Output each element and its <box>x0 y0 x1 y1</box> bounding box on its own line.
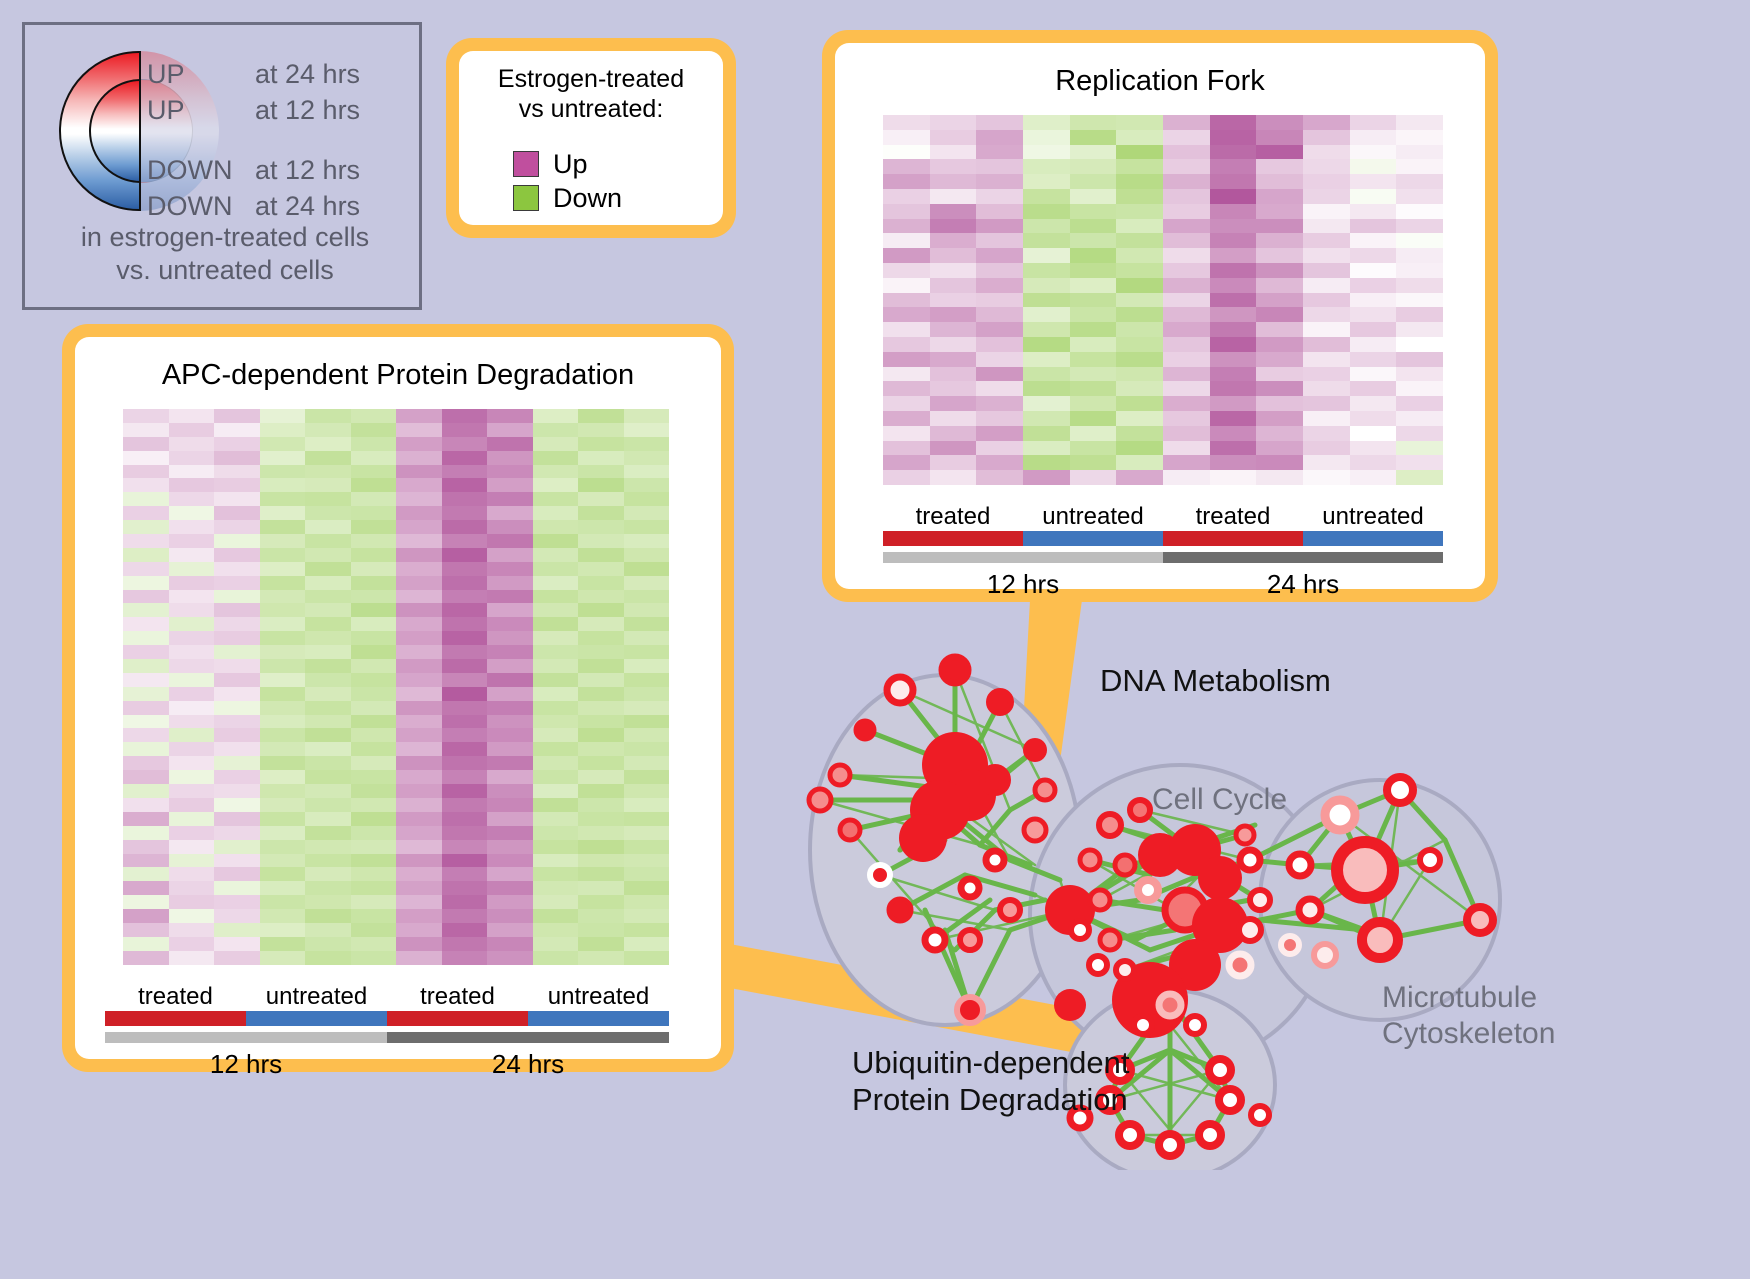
heatmap-cell <box>533 451 579 465</box>
heatmap-cell <box>260 798 306 812</box>
heatmap-cell <box>1303 396 1350 411</box>
heatmap-color-legend-panel: Estrogen-treated vs untreated: Up Down <box>446 38 736 238</box>
heatmap-cell <box>123 909 169 923</box>
heatmap-cell <box>533 534 579 548</box>
heatmap-cell <box>260 409 306 423</box>
heatmap-cell <box>1163 174 1210 189</box>
heatmap-cell <box>1070 174 1117 189</box>
heatmap-cell <box>624 881 670 895</box>
label-ubiquitin-line1: Ubiquitin-dependent <box>852 1044 1130 1081</box>
heatmap-cell <box>1396 219 1443 234</box>
heatmap-cell <box>214 756 260 770</box>
heatmap-cell <box>1163 204 1210 219</box>
heatmap-cell <box>1163 145 1210 160</box>
heatmap-cell <box>214 770 260 784</box>
heatmap-cell <box>1023 130 1070 145</box>
heatmap-cell <box>1350 470 1397 485</box>
heatmap-cell <box>214 895 260 909</box>
heatmap-cell <box>487 854 533 868</box>
heatmap-cell <box>1210 130 1257 145</box>
heatmap-cell <box>351 756 397 770</box>
apc-timebar-12 <box>105 1032 387 1043</box>
heatmap-cell <box>351 812 397 826</box>
heatmap-cell <box>1396 455 1443 470</box>
heatmap-cell <box>533 548 579 562</box>
label-ubiquitin-line2: Protein Degradation <box>852 1081 1130 1118</box>
legend-title: Estrogen-treated vs untreated: <box>459 65 723 124</box>
heatmap-cell <box>305 826 351 840</box>
heatmap-cell <box>930 367 977 382</box>
heatmap-cell <box>1396 411 1443 426</box>
heatmap-cell <box>1023 367 1070 382</box>
apc-bar-untreated-12 <box>246 1011 387 1026</box>
heatmap-cell <box>1350 248 1397 263</box>
apc-group-bars <box>105 1011 669 1026</box>
heatmap-cell <box>1256 219 1303 234</box>
heatmap-cell <box>396 826 442 840</box>
heatmap-cell <box>976 189 1023 204</box>
heatmap-cell <box>214 798 260 812</box>
heatmap-cell <box>123 590 169 604</box>
heatmap-cell <box>214 826 260 840</box>
heatmap-cell <box>305 645 351 659</box>
heatmap-cell <box>976 441 1023 456</box>
heatmap-cell <box>578 701 624 715</box>
heatmap-cell <box>169 812 215 826</box>
heatmap-cell <box>123 826 169 840</box>
heatmap-cell <box>1256 189 1303 204</box>
heatmap-cell <box>1303 455 1350 470</box>
heatmap-cell <box>1116 204 1163 219</box>
heatmap-cell <box>305 631 351 645</box>
heatmap-cell <box>1023 455 1070 470</box>
heatmap-cell <box>442 590 488 604</box>
heatmap-cell <box>305 492 351 506</box>
heatmap-cell <box>1210 337 1257 352</box>
heatmap-cell <box>1163 263 1210 278</box>
heatmap-cell <box>930 293 977 308</box>
heatmap-cell <box>1163 396 1210 411</box>
heatmap-cell <box>883 322 930 337</box>
heatmap-cell <box>624 465 670 479</box>
heatmap-cell <box>1070 470 1117 485</box>
heatmap-cell <box>624 854 670 868</box>
heatmap-cell <box>976 248 1023 263</box>
apc-time-label-24: 24 hrs <box>387 1049 669 1080</box>
heatmap-cell <box>396 937 442 951</box>
heatmap-cell <box>396 590 442 604</box>
heatmap-cell <box>1256 322 1303 337</box>
heatmap-cell <box>1396 396 1443 411</box>
heatmap-cell <box>1256 130 1303 145</box>
heatmap-cell <box>930 174 977 189</box>
heatmap-cell <box>1210 115 1257 130</box>
heatmap-cell <box>123 687 169 701</box>
heatmap-cell <box>351 645 397 659</box>
heatmap-cell <box>260 603 306 617</box>
heatmap-cell <box>1023 278 1070 293</box>
heatmap-cell <box>169 881 215 895</box>
heatmap-cell <box>883 145 930 160</box>
heatmap-cell <box>1116 322 1163 337</box>
heatmap-cell <box>624 798 670 812</box>
heatmap-cell <box>442 520 488 534</box>
heatmap-cell <box>396 715 442 729</box>
heatmap-cell <box>260 465 306 479</box>
heatmap-cell <box>351 603 397 617</box>
heatmap-cell <box>883 293 930 308</box>
heatmap-cell <box>214 742 260 756</box>
heatmap-cell <box>169 631 215 645</box>
heatmap-cell <box>1163 293 1210 308</box>
heatmap-cell <box>487 423 533 437</box>
heatmap-cell <box>578 687 624 701</box>
heatmap-cell <box>351 548 397 562</box>
node-key-footer-line1: in estrogen-treated cells <box>25 221 425 254</box>
heatmap-cell <box>442 895 488 909</box>
heatmap-cell <box>396 409 442 423</box>
heatmap-cell <box>487 590 533 604</box>
inner-disc-left-half <box>89 79 140 183</box>
heatmap-cell <box>487 534 533 548</box>
heatmap-cell <box>351 659 397 673</box>
heatmap-cell <box>260 742 306 756</box>
heatmap-cell <box>487 784 533 798</box>
heatmap-cell <box>1210 352 1257 367</box>
heatmap-cell <box>396 742 442 756</box>
apc-time-bars <box>105 1032 669 1043</box>
heatmap-cell <box>1396 293 1443 308</box>
heatmap-cell <box>1303 159 1350 174</box>
heatmap-cell <box>351 784 397 798</box>
heatmap-cell <box>351 562 397 576</box>
heatmap-cell <box>1256 204 1303 219</box>
replication-fork-title: Replication Fork <box>835 65 1485 98</box>
heatmap-cell <box>260 478 306 492</box>
heatmap-cell <box>578 826 624 840</box>
heatmap-cell <box>487 659 533 673</box>
heatmap-cell <box>442 617 488 631</box>
heatmap-cell <box>305 576 351 590</box>
heatmap-cell <box>123 673 169 687</box>
heatmap-cell <box>442 770 488 784</box>
heatmap-cell <box>442 909 488 923</box>
heatmap-cell <box>123 534 169 548</box>
heatmap-cell <box>1350 367 1397 382</box>
heatmap-cell <box>396 451 442 465</box>
legend-title-line2: vs untreated: <box>459 95 723 125</box>
replication-fork-axis: treated untreated treated untreated 12 h <box>883 503 1443 600</box>
heatmap-cell <box>533 909 579 923</box>
rf-group-bars <box>883 531 1443 546</box>
heatmap-cell <box>1070 159 1117 174</box>
heatmap-cell <box>351 534 397 548</box>
heatmap-cell <box>260 909 306 923</box>
heatmap-cell <box>1070 381 1117 396</box>
heatmap-cell <box>305 798 351 812</box>
heatmap-cell <box>260 812 306 826</box>
heatmap-cell <box>1350 204 1397 219</box>
node-key-footer: in estrogen-treated cells vs. untreated … <box>25 221 425 287</box>
heatmap-cell <box>260 854 306 868</box>
heatmap-cell <box>883 396 930 411</box>
heatmap-cell <box>487 631 533 645</box>
heatmap-cell <box>260 492 306 506</box>
heatmap-cell <box>169 770 215 784</box>
heatmap-cell <box>169 923 215 937</box>
heatmap-cell <box>578 534 624 548</box>
heatmap-cell <box>442 645 488 659</box>
heatmap-cell <box>123 715 169 729</box>
heatmap-cell <box>442 659 488 673</box>
heatmap-cell <box>305 506 351 520</box>
heatmap-cell <box>976 455 1023 470</box>
heatmap-cell <box>1210 293 1257 308</box>
heatmap-cell <box>396 881 442 895</box>
replication-fork-heatmap <box>883 115 1443 485</box>
heatmap-cell <box>930 411 977 426</box>
heatmap-cell <box>214 909 260 923</box>
heatmap-cell <box>442 506 488 520</box>
heatmap-cell <box>1023 337 1070 352</box>
heatmap-cell <box>396 478 442 492</box>
heatmap-cell <box>396 812 442 826</box>
heatmap-cell <box>976 411 1023 426</box>
heatmap-cell <box>578 548 624 562</box>
heatmap-cell <box>1396 248 1443 263</box>
heatmap-cell <box>883 233 930 248</box>
heatmap-cell <box>1350 189 1397 204</box>
heatmap-cell <box>578 715 624 729</box>
heatmap-cell <box>123 812 169 826</box>
heatmap-cell <box>930 204 977 219</box>
heatmap-cell <box>214 423 260 437</box>
rf-bar-treated-12 <box>883 531 1023 546</box>
heatmap-cell <box>442 409 488 423</box>
key-state-up-12: UP <box>147 95 255 126</box>
heatmap-cell <box>578 478 624 492</box>
heatmap-cell <box>214 492 260 506</box>
heatmap-cell <box>1350 411 1397 426</box>
apc-group-label-2: treated <box>387 983 528 1011</box>
heatmap-cell <box>487 478 533 492</box>
key-state-down-12: DOWN <box>147 155 255 186</box>
heatmap-cell <box>169 659 215 673</box>
heatmap-cell <box>214 673 260 687</box>
heatmap-cell <box>578 659 624 673</box>
heatmap-cell <box>169 437 215 451</box>
heatmap-cell <box>487 715 533 729</box>
heatmap-cell <box>1303 337 1350 352</box>
heatmap-cell <box>305 465 351 479</box>
heatmap-cell <box>351 492 397 506</box>
heatmap-cell <box>305 451 351 465</box>
heatmap-cell <box>1303 145 1350 160</box>
heatmap-cell <box>305 923 351 937</box>
heatmap-cell <box>169 867 215 881</box>
heatmap-cell <box>123 770 169 784</box>
heatmap-cell <box>396 923 442 937</box>
heatmap-cell <box>305 854 351 868</box>
heatmap-cell <box>533 659 579 673</box>
heatmap-cell <box>442 867 488 881</box>
heatmap-cell <box>930 159 977 174</box>
heatmap-cell <box>1256 411 1303 426</box>
heatmap-cell <box>578 603 624 617</box>
heatmap-cell <box>260 881 306 895</box>
heatmap-cell <box>624 451 670 465</box>
heatmap-cell <box>487 881 533 895</box>
heatmap-cell <box>305 603 351 617</box>
heatmap-cell <box>883 159 930 174</box>
heatmap-cell <box>305 770 351 784</box>
heatmap-cell <box>976 337 1023 352</box>
heatmap-cell <box>624 423 670 437</box>
heatmap-cell <box>351 506 397 520</box>
heatmap-cell <box>1210 174 1257 189</box>
heatmap-cell <box>305 728 351 742</box>
heatmap-cell <box>1070 352 1117 367</box>
heatmap-cell <box>578 854 624 868</box>
heatmap-cell <box>1303 248 1350 263</box>
heatmap-cell <box>883 204 930 219</box>
heatmap-cell <box>305 909 351 923</box>
heatmap-cell <box>442 631 488 645</box>
heatmap-cell <box>1116 426 1163 441</box>
heatmap-cell <box>396 895 442 909</box>
heatmap-cell <box>442 840 488 854</box>
heatmap-cell <box>533 617 579 631</box>
heatmap-cell <box>123 437 169 451</box>
heatmap-cell <box>1116 130 1163 145</box>
heatmap-cell <box>1116 263 1163 278</box>
heatmap-cell <box>169 576 215 590</box>
heatmap-cell <box>624 770 670 784</box>
heatmap-cell <box>976 204 1023 219</box>
heatmap-cell <box>442 798 488 812</box>
heatmap-cell <box>1116 470 1163 485</box>
heatmap-cell <box>578 437 624 451</box>
heatmap-cell <box>1163 411 1210 426</box>
heatmap-cell <box>396 673 442 687</box>
heatmap-cell <box>1163 233 1210 248</box>
heatmap-cell <box>487 742 533 756</box>
heatmap-cell <box>578 562 624 576</box>
heatmap-cell <box>123 867 169 881</box>
heatmap-cell <box>123 923 169 937</box>
heatmap-cell <box>1070 337 1117 352</box>
heatmap-cell <box>123 659 169 673</box>
heatmap-cell <box>1163 189 1210 204</box>
rf-bar-treated-24 <box>1163 531 1303 546</box>
heatmap-cell <box>305 812 351 826</box>
heatmap-cell <box>578 451 624 465</box>
heatmap-cell <box>351 687 397 701</box>
heatmap-cell <box>123 409 169 423</box>
apc-timebar-24 <box>387 1032 669 1043</box>
heatmap-cell <box>1256 145 1303 160</box>
heatmap-cell <box>1163 278 1210 293</box>
heatmap-cell <box>1303 426 1350 441</box>
heatmap-cell <box>1303 322 1350 337</box>
heatmap-cell <box>260 631 306 645</box>
heatmap-cell <box>169 451 215 465</box>
heatmap-cell <box>123 728 169 742</box>
heatmap-cell <box>260 451 306 465</box>
heatmap-cell <box>351 590 397 604</box>
apc-time-labels: 12 hrs 24 hrs <box>105 1049 669 1080</box>
heatmap-cell <box>351 770 397 784</box>
heatmap-cell <box>214 548 260 562</box>
heatmap-cell <box>487 562 533 576</box>
heatmap-cell <box>1210 381 1257 396</box>
heatmap-cell <box>487 520 533 534</box>
heatmap-cell <box>351 909 397 923</box>
heatmap-cell <box>123 603 169 617</box>
heatmap-cell <box>1303 367 1350 382</box>
heatmap-cell <box>1350 352 1397 367</box>
heatmap-cell <box>1116 337 1163 352</box>
key-row-down-24: DOWNat 24 hrs <box>147 191 360 222</box>
heatmap-cell <box>1023 470 1070 485</box>
heatmap-cell <box>578 506 624 520</box>
heatmap-cell <box>169 520 215 534</box>
heatmap-cell <box>260 951 306 965</box>
heatmap-cell <box>624 659 670 673</box>
heatmap-cell <box>214 784 260 798</box>
heatmap-cell <box>1350 307 1397 322</box>
heatmap-cell <box>487 645 533 659</box>
heatmap-cell <box>305 756 351 770</box>
heatmap-cell <box>1396 115 1443 130</box>
replication-fork-inner: Replication Fork treated untreated treat… <box>835 43 1485 589</box>
legend-label-down: Down <box>553 183 622 214</box>
heatmap-cell <box>930 337 977 352</box>
heatmap-cell <box>351 826 397 840</box>
heatmap-cell <box>123 451 169 465</box>
heatmap-cell <box>624 826 670 840</box>
heatmap-cell <box>169 409 215 423</box>
heatmap-cell <box>351 895 397 909</box>
heatmap-cell <box>169 854 215 868</box>
heatmap-cell <box>624 728 670 742</box>
heatmap-cell <box>1303 352 1350 367</box>
heatmap-cell <box>578 867 624 881</box>
heatmap-cell <box>533 576 579 590</box>
heatmap-cell <box>351 742 397 756</box>
heatmap-cell <box>1210 233 1257 248</box>
heatmap-cell <box>533 784 579 798</box>
heatmap-cell <box>396 728 442 742</box>
heatmap-cell <box>624 840 670 854</box>
heatmap-cell <box>396 603 442 617</box>
heatmap-cell <box>1303 233 1350 248</box>
heatmap-cell <box>214 506 260 520</box>
heatmap-cell <box>305 548 351 562</box>
heatmap-cell <box>123 645 169 659</box>
heatmap-cell <box>1210 426 1257 441</box>
heatmap-cell <box>305 590 351 604</box>
heatmap-cell <box>351 854 397 868</box>
heatmap-cell <box>396 854 442 868</box>
heatmap-cell <box>1116 396 1163 411</box>
heatmap-cell <box>883 278 930 293</box>
heatmap-cell <box>624 492 670 506</box>
heatmap-cell <box>1210 248 1257 263</box>
apc-heatmap <box>123 409 669 965</box>
heatmap-cell <box>1256 352 1303 367</box>
heatmap-cell <box>1396 367 1443 382</box>
